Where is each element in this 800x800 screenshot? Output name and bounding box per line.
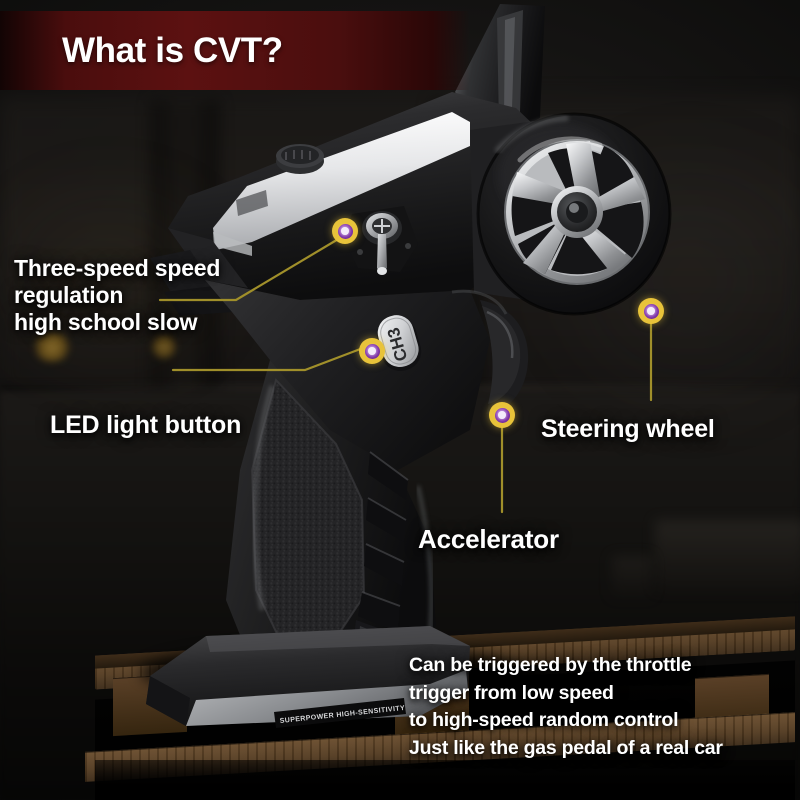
description-paragraph: Can be triggered by the throttle trigger…: [409, 652, 723, 763]
page-title: What is CVT?: [62, 33, 283, 68]
callout-label-three-speed: Three-speed speed regulation high school…: [14, 255, 220, 336]
callout-marker-accelerator[interactable]: [489, 402, 515, 428]
trim-dial: [276, 144, 324, 174]
callout-marker-steering[interactable]: [638, 298, 664, 324]
callout-label-steering: Steering wheel: [541, 415, 715, 444]
callout-marker-led[interactable]: [359, 338, 385, 364]
infographic-canvas: CH3: [0, 0, 800, 800]
steering-wheel[interactable]: [470, 114, 670, 314]
callout-marker-three-speed[interactable]: [332, 218, 358, 244]
callout-label-accelerator: Accelerator: [418, 524, 559, 554]
callout-label-led: LED light button: [50, 411, 241, 440]
title-banner: What is CVT?: [0, 11, 470, 90]
